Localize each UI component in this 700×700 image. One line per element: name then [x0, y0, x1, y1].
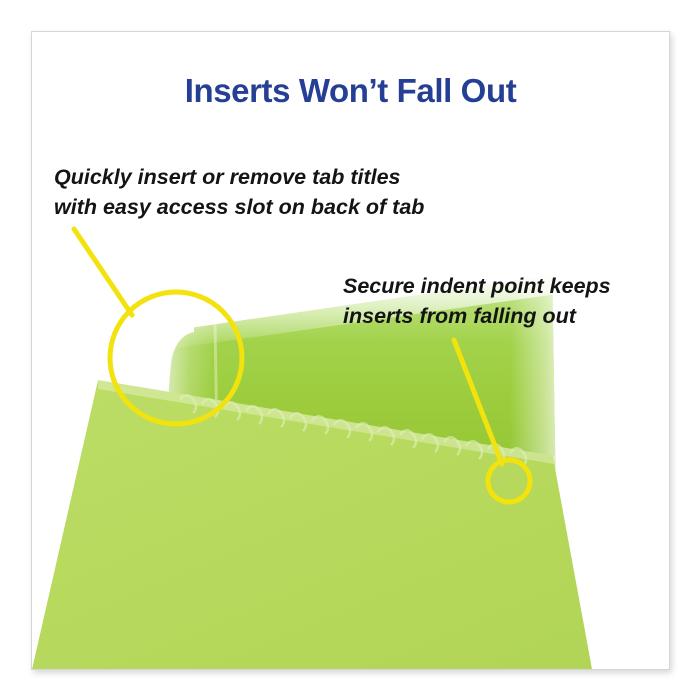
product-feature-figure: Inserts Won’t Fall Out Quickly insert or…: [0, 0, 700, 700]
callout-access-slot-line2: with easy access slot on back of tab: [54, 193, 424, 223]
page-title: Inserts Won’t Fall Out: [32, 72, 669, 110]
photo-stage: Inserts Won’t Fall Out Quickly insert or…: [32, 32, 669, 669]
callout-indent-point-line2: inserts from falling out: [343, 302, 611, 332]
leader-line-access-slot: [74, 229, 132, 315]
callout-access-slot: Quickly insert or remove tab titles with…: [54, 163, 424, 222]
photo-frame: Inserts Won’t Fall Out Quickly insert or…: [31, 31, 670, 670]
callout-indent-point: Secure indent point keeps inserts from f…: [343, 272, 611, 331]
callout-access-slot-line1: Quickly insert or remove tab titles: [54, 163, 424, 193]
callout-indent-point-line1: Secure indent point keeps: [343, 272, 611, 302]
product-photo-artwork: [32, 32, 669, 669]
